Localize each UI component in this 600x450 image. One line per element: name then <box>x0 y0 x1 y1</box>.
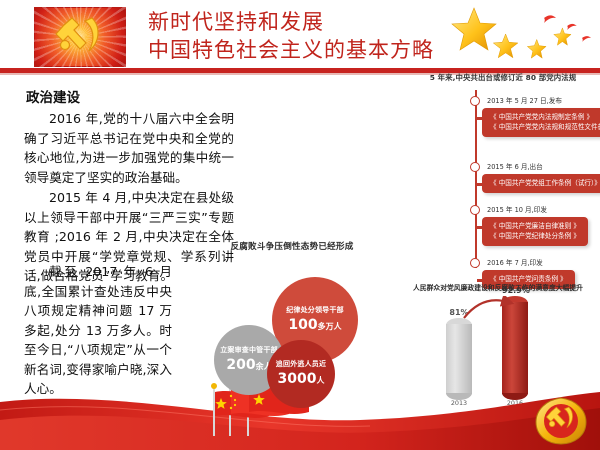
gold-stars-decoration <box>440 2 600 68</box>
left-text-column-2: 截至 2017 年 6 月底,全国累计查处违反中央八项规定精神问题 17 万多起… <box>24 262 172 399</box>
regulation-name: 《 中国共产党党内法规制定条例 》 <box>490 112 600 122</box>
timeline-card: 《 中国共产党廉洁自律准则 》 《 中国共产党纪律处分条例 》 <box>482 217 588 246</box>
timeline-card: 《 中国共产党党内法规制定条例 》 《 中国共产党党内法规和规范性文件备案规定 … <box>482 108 600 137</box>
paragraph-3: 截至 2017 年 6 月底,全国累计查处违反中央八项规定精神问题 17 万多起… <box>24 262 172 399</box>
bubble-label: 纪律处分领导干部 <box>286 306 344 315</box>
timeline-date: 2013 年 5 月 27 日,发布 <box>487 95 562 105</box>
bubble-unit: 人 <box>316 376 324 385</box>
timeline-dot-icon <box>470 205 480 215</box>
card-connector <box>477 183 484 186</box>
regulation-name: 《 中国共产党廉洁自律准则 》 <box>490 221 580 231</box>
section-title: 政治建设 <box>26 86 234 106</box>
title-line-2: 中国特色社会主义的基本方略 <box>148 36 448 64</box>
title-line-1: 新时代坚持和发展 <box>148 8 448 36</box>
regulation-name: 《 中国共产党纪律处分条例 》 <box>490 231 580 241</box>
infographic-title: 反腐败斗争压倒性态势已经形成 <box>192 240 392 252</box>
slide-canvas: 新时代坚持和发展 中国特色社会主义的基本方略 <box>0 0 600 450</box>
bar-value-label: 81% <box>446 308 472 317</box>
timeline-dot-icon <box>470 258 480 268</box>
party-regulations-timeline: 5 年来,中央共出台或修订近 80 部党内法规 2013 年 5 月 27 日,… <box>396 72 596 272</box>
timeline-date: 2016 年 7 月,印发 <box>487 257 543 267</box>
timeline-dot-icon <box>470 162 480 172</box>
timeline-title: 5 年来,中央共出台或修订近 80 部党内法规 <box>410 72 596 83</box>
regulation-name: 《 中国共产党党组工作条例（试行）》 <box>490 178 600 188</box>
bubble-value: 100多万人 <box>288 316 341 334</box>
bar-value-label: 92.9% <box>502 286 528 295</box>
bubble-number: 3000 <box>278 371 317 387</box>
hammer-sickle-emblem <box>34 7 126 67</box>
page-title: 新时代坚持和发展 中国特色社会主义的基本方略 <box>148 8 448 64</box>
hammer-sickle-icon <box>52 13 108 61</box>
bubble-returned-fugitives: 追回外逃人员近 3000人 <box>267 340 335 408</box>
timeline-card: 《 中国共产党党组工作条例（试行）》 <box>482 174 600 193</box>
slide-header: 新时代坚持和发展 中国特色社会主义的基本方略 <box>0 0 600 74</box>
card-connector <box>477 117 484 120</box>
party-emblem-seal <box>532 396 590 446</box>
card-connector <box>477 226 484 229</box>
bubble-label: 追回外逃人员近 <box>276 360 326 369</box>
bubble-unit: 多万人 <box>318 322 342 331</box>
timeline-date: 2015 年 6 月,出台 <box>487 161 543 171</box>
bubble-label: 立案审查中管干部 <box>220 346 278 355</box>
timeline-date: 2015 年 10 月,印发 <box>487 204 547 214</box>
regulation-name: 《 中国共产党党内法规和规范性文件备案规定 》 <box>490 122 600 132</box>
bubble-number: 200 <box>226 357 255 373</box>
bubble-value: 200余人 <box>226 356 271 374</box>
bubble-value: 3000人 <box>278 370 325 388</box>
chart-title: 人民群众对党风廉政建设和反腐败工作的满意度大幅提升 <box>398 282 598 292</box>
bubble-number: 100 <box>288 317 317 333</box>
timeline-dot-icon <box>470 96 480 106</box>
paragraph-1: 2016 年,党的十八届六中全会明确了习近平总书记在党中央和全党的核心地位,为进… <box>24 109 234 187</box>
